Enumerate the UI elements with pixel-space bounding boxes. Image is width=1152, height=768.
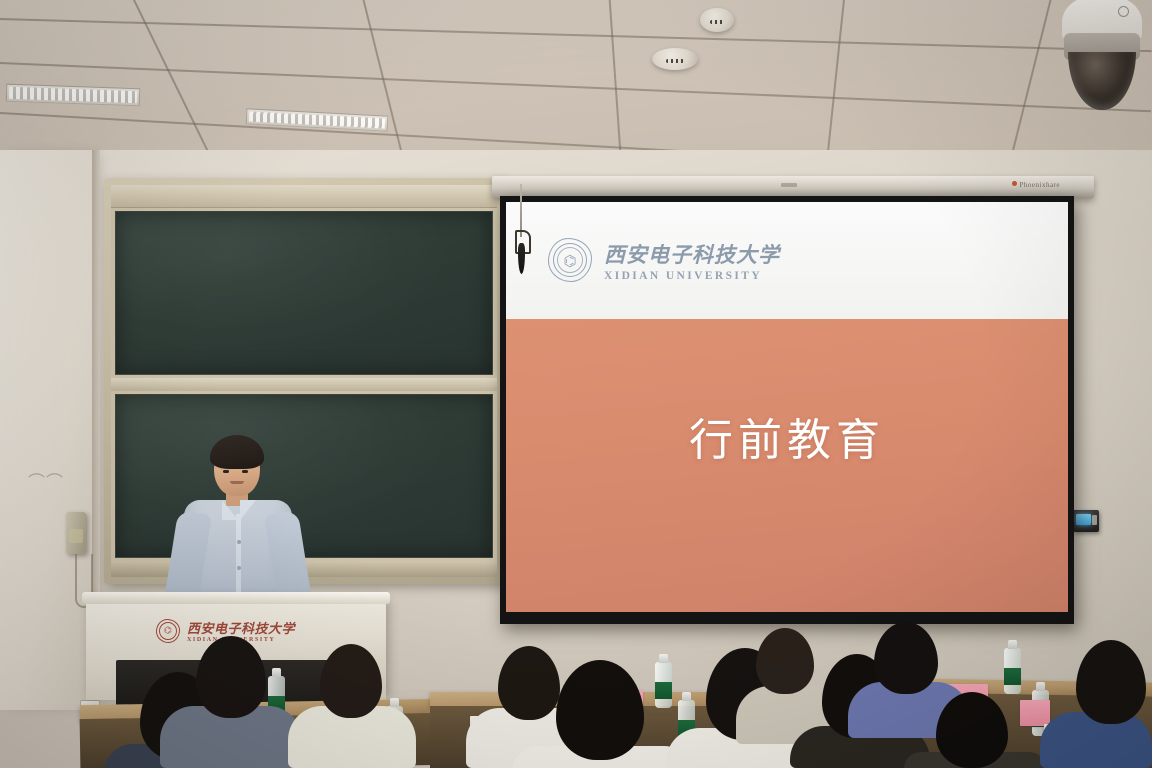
dome-camera-icon (1062, 0, 1142, 100)
presenter-eye-right (242, 470, 248, 473)
logo-text-en: XIDIAN UNIVERSITY (604, 270, 780, 282)
presentation-slide: ⌬ 西安电子科技大学 XIDIAN UNIVERSITY 行前教育 (506, 202, 1068, 612)
presenter-eye-left (223, 470, 229, 473)
casing-notch (781, 183, 797, 187)
slide-title: 行前教育 (689, 404, 885, 468)
slide-body: 行前教育 (506, 319, 1068, 612)
shirt-button (237, 566, 241, 570)
desk-front-panel (839, 691, 1152, 768)
screen-brand-label: Phoenixhare (1012, 181, 1061, 189)
ceiling-grid-line (0, 62, 1151, 112)
audience-area (0, 596, 1152, 768)
recessed-light (6, 84, 141, 107)
av-control-panel[interactable] (1073, 510, 1099, 532)
presenter-mouth (230, 481, 244, 484)
projector-screen-casing: Phoenixhare (492, 176, 1094, 198)
xidian-emblem-icon: ⌬ (548, 238, 592, 282)
logo-text-cn: 西安电子科技大学 (604, 239, 780, 269)
desk-front-panel (430, 706, 850, 768)
blackboard-top-rail (111, 185, 497, 208)
wall-telephone-icon[interactable] (66, 512, 86, 554)
shirt-button (237, 540, 241, 544)
presenter-hair (210, 435, 264, 469)
slide-header: ⌬ 西安电子科技大学 XIDIAN UNIVERSITY (506, 202, 1068, 319)
blackboard-panel-upper (115, 211, 493, 375)
smoke-detector-icon (652, 48, 698, 70)
desk-row (430, 692, 850, 707)
desk-front-panel (80, 713, 441, 768)
blackboard-divider (111, 378, 497, 391)
presenter-collar-right (240, 500, 256, 520)
ceiling-microphone-icon (508, 184, 534, 276)
xidian-logo: ⌬ 西安电子科技大学 XIDIAN UNIVERSITY (548, 238, 780, 282)
ceiling-grid-line (0, 18, 1152, 52)
projector-screen: ⌬ 西安电子科技大学 XIDIAN UNIVERSITY 行前教育 (500, 196, 1074, 624)
smoke-detector-icon (700, 8, 734, 32)
classroom-scene: ⌒⌒ Phoenixhare (0, 0, 1152, 768)
wall-mark: ⌒⌒ (28, 468, 64, 493)
